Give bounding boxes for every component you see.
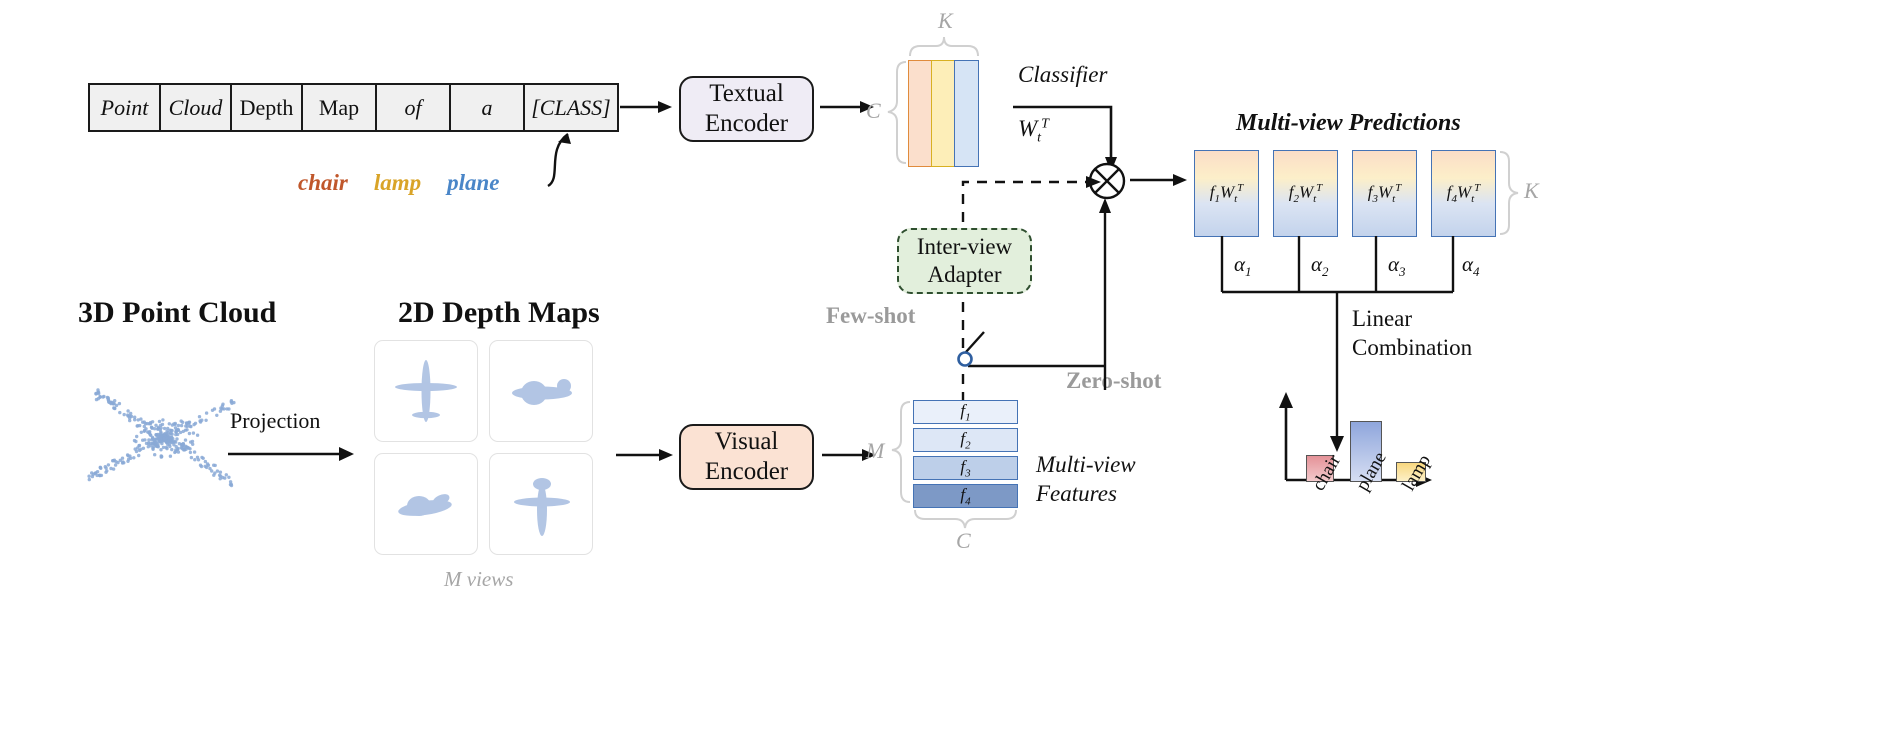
depth-maps-title: 2D Depth Maps bbox=[398, 296, 600, 330]
prediction-box-1: f1WtT bbox=[1194, 150, 1259, 237]
prompt-token-4: of bbox=[377, 85, 451, 130]
projection-label: Projection bbox=[230, 408, 320, 434]
zero-shot-switch-path bbox=[950, 182, 1130, 392]
depth-map-grid bbox=[374, 340, 591, 553]
prediction-bar-chart: chairplanelamp bbox=[1268, 388, 1448, 578]
prompt-token-3: Map bbox=[303, 85, 377, 130]
multiview-prediction-boxes: f1WtTf2WtTf3WtTf4WtT bbox=[1194, 150, 1496, 237]
classifier-dim-c-label: C bbox=[866, 98, 881, 124]
arrow-depthmaps-to-visual-encoder bbox=[616, 443, 674, 471]
classifier-title: Classifier bbox=[1018, 62, 1107, 88]
textual-encoder-label-1: Textual bbox=[705, 79, 788, 109]
textual-encoder-label-2: Encoder bbox=[705, 109, 788, 139]
linear-combination-line-1: Linear bbox=[1352, 305, 1472, 334]
prompt-token-2: Depth bbox=[232, 85, 303, 130]
prediction-box-2: f2WtT bbox=[1273, 150, 1338, 237]
prompt-token-1: Cloud bbox=[161, 85, 232, 130]
classifier-column-2 bbox=[954, 60, 979, 167]
arrow-projection bbox=[228, 442, 358, 470]
depth-map-view-2 bbox=[489, 340, 593, 442]
brace-c-features bbox=[913, 508, 1018, 530]
alpha-weight-4: α4 bbox=[1462, 252, 1480, 280]
classifier-column-0 bbox=[908, 60, 933, 167]
linear-combination-label: Linear Combination bbox=[1352, 305, 1472, 363]
brace-m-features bbox=[890, 400, 912, 504]
class-word-chair: chair bbox=[298, 170, 348, 196]
textual-encoder-box: Textual Encoder bbox=[679, 76, 814, 142]
brace-c-classifier bbox=[886, 60, 908, 165]
features-caption-line-1: Multi-view bbox=[1036, 450, 1136, 479]
classifier-dim-k-label: K bbox=[938, 8, 953, 34]
depth-map-view-3 bbox=[374, 453, 478, 555]
classifier-column-1 bbox=[931, 60, 956, 167]
prediction-box-3: f3WtT bbox=[1352, 150, 1417, 237]
multiview-features-caption: Multi-view Features bbox=[1036, 450, 1136, 509]
linear-combination-line-2: Combination bbox=[1352, 334, 1472, 363]
prediction-box-4: f4WtT bbox=[1431, 150, 1496, 237]
arrow-prompt-to-textual-encoder bbox=[620, 95, 674, 125]
point-cloud-visual bbox=[58, 358, 278, 518]
point-cloud-title: 3D Point Cloud bbox=[78, 296, 276, 330]
multiview-predictions-title: Multi-view Predictions bbox=[1236, 110, 1461, 137]
visual-encoder-box: Visual Encoder bbox=[679, 424, 814, 490]
arrow-multiply-to-predictions bbox=[1130, 168, 1190, 196]
feature-row-4: f4 bbox=[913, 484, 1018, 508]
brace-k-predictions bbox=[1498, 150, 1520, 236]
alpha-weight-1: α1 bbox=[1234, 252, 1252, 280]
prompt-token-0: Point bbox=[90, 85, 161, 130]
alpha-weight-3: α3 bbox=[1388, 252, 1406, 280]
visual-encoder-label-1: Visual bbox=[705, 427, 788, 457]
depth-map-view-4 bbox=[489, 453, 593, 555]
class-word-lamp: lamp bbox=[374, 170, 421, 196]
features-dim-c-label: C bbox=[956, 528, 971, 554]
feature-row-3: f3 bbox=[913, 456, 1018, 480]
feature-row-2: f2 bbox=[913, 428, 1018, 452]
feature-row-1: f1 bbox=[913, 400, 1018, 424]
views-caption: M views bbox=[444, 567, 513, 592]
brace-k-classifier bbox=[908, 34, 980, 58]
depth-map-view-1 bbox=[374, 340, 478, 442]
features-dim-m-label: M bbox=[866, 438, 884, 464]
features-caption-line-2: Features bbox=[1036, 479, 1136, 508]
class-to-token-arrow bbox=[470, 120, 590, 190]
multiview-feature-stack: f1f2f3f4 bbox=[913, 400, 1018, 512]
few-shot-label: Few-shot bbox=[826, 303, 915, 329]
visual-encoder-label-2: Encoder bbox=[705, 457, 788, 487]
classifier-weight-matrix bbox=[908, 60, 979, 165]
predictions-dim-k-label: K bbox=[1524, 178, 1539, 204]
alpha-weight-2: α2 bbox=[1311, 252, 1329, 280]
